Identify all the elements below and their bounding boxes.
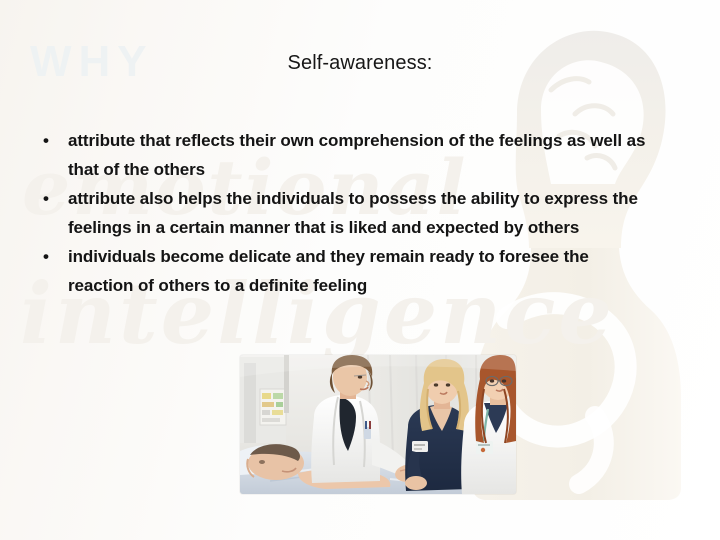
bullet-item: attribute that reflects their own compre…: [36, 126, 658, 184]
slide-title: Self-awareness:: [0, 52, 720, 75]
clinical-team-photo-graphic: [240, 355, 516, 494]
clinical-team-with-patient-photo: [240, 355, 516, 494]
bullet-list: attribute that reflects their own compre…: [36, 126, 676, 300]
bullet-item: individuals become delicate and they rem…: [36, 242, 628, 300]
bullet-item: attribute also helps the individuals to …: [36, 184, 676, 242]
slide-canvas: WHY emotional intelligence Self-awarenes…: [0, 0, 720, 540]
